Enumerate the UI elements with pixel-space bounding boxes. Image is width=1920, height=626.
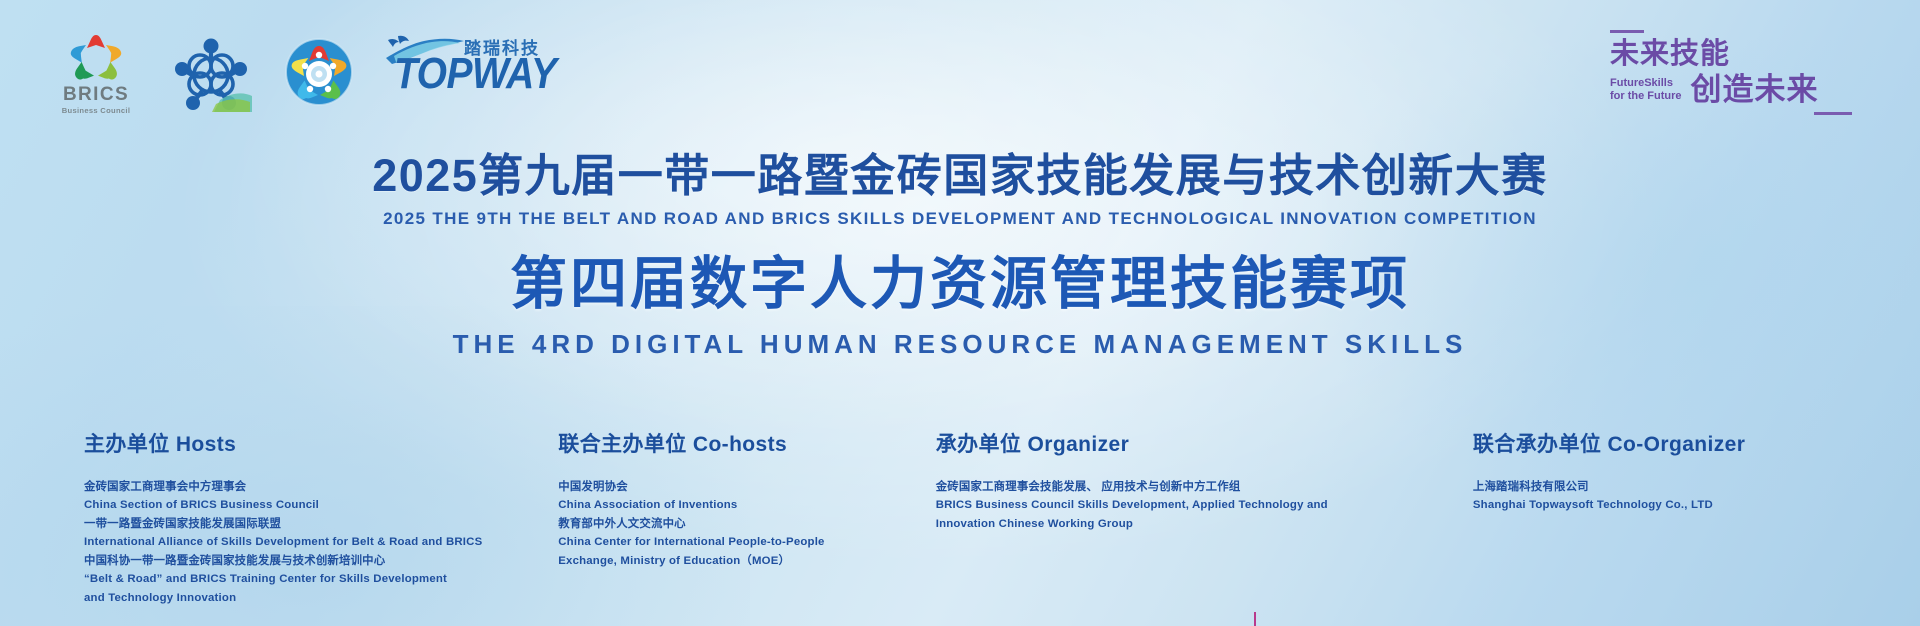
future-skills-en: FutureSkills for the Future — [1610, 77, 1682, 102]
future-skills-cn-line2: 创造未来 — [1691, 74, 1819, 105]
brics-star-icon — [68, 32, 124, 84]
skills-training-center-logo — [280, 28, 358, 115]
main-title-chinese: 2025第九届一带一路暨金砖国家技能发展与技术创新大赛 — [0, 152, 1920, 200]
bottom-edge-mark — [1254, 612, 1256, 626]
subtitle-chinese: 第四届数字人力资源管理技能赛项 — [0, 255, 1920, 315]
organizer-body: 上海踏瑞科技有限公司 Shanghai Topwaysoft Technolog… — [1473, 478, 1860, 515]
future-skills-rule-top — [1610, 30, 1644, 33]
belt-road-brics-alliance-logo — [170, 28, 252, 119]
organizer-column-hosts: 主办单位 Hosts 金砖国家工商理事会中方理事会 China Section … — [84, 428, 558, 607]
title-block: 2025第九届一带一路暨金砖国家技能发展与技术创新大赛 2025 THE 9TH… — [0, 152, 1920, 360]
future-skills-badge: 未来技能 FutureSkills for the Future 创造未来 — [1608, 30, 1868, 115]
organizer-column-coorganizer: 联合承办单位 Co-Organizer 上海踏瑞科技有限公司 Shanghai … — [1473, 428, 1860, 607]
topway-logo: 踏瑞科技 TOPWAY — [384, 28, 554, 42]
main-title-english: 2025 THE 9TH THE BELT AND ROAD AND BRICS… — [0, 209, 1920, 229]
organizer-body: 中国发明协会 China Association of Inventions 教… — [558, 478, 935, 570]
organizer-columns: 主办单位 Hosts 金砖国家工商理事会中方理事会 China Section … — [0, 428, 1920, 607]
organizer-heading: 主办单位 Hosts — [84, 428, 558, 458]
brics-logo-subtitle: Business Council — [60, 106, 132, 115]
organizer-column-organizer: 承办单位 Organizer 金砖国家工商理事会技能发展、 应用技术与创新中方工… — [936, 428, 1473, 607]
brics-logo-wordmark: BRICS — [60, 85, 132, 105]
competition-banner: BRICS Business Council — [0, 0, 1920, 626]
organizer-body: 金砖国家工商理事会技能发展、 应用技术与创新中方工作组 BRICS Busine… — [936, 478, 1473, 533]
brics-business-council-logo: BRICS Business Council — [60, 28, 132, 115]
organizer-column-cohosts: 联合主办单位 Co-hosts 中国发明协会 China Association… — [558, 428, 935, 607]
organizer-heading: 联合主办单位 Co-hosts — [558, 428, 935, 458]
logo-row: BRICS Business Council — [60, 28, 554, 124]
organizer-heading: 联合承办单位 Co-Organizer — [1473, 428, 1860, 458]
organizer-heading: 承办单位 Organizer — [936, 428, 1473, 458]
organizer-body: 金砖国家工商理事会中方理事会 China Section of BRICS Bu… — [84, 478, 558, 607]
future-skills-cn-line1: 未来技能 — [1610, 40, 1868, 69]
training-center-emblem-icon — [280, 30, 358, 110]
topway-wordmark: TOPWAY — [394, 50, 556, 99]
future-skills-rule-bottom — [1814, 112, 1852, 115]
subtitle-english: THE 4RD DIGITAL HUMAN RESOURCE MANAGEMEN… — [0, 329, 1920, 360]
alliance-emblem-icon — [170, 34, 252, 114]
